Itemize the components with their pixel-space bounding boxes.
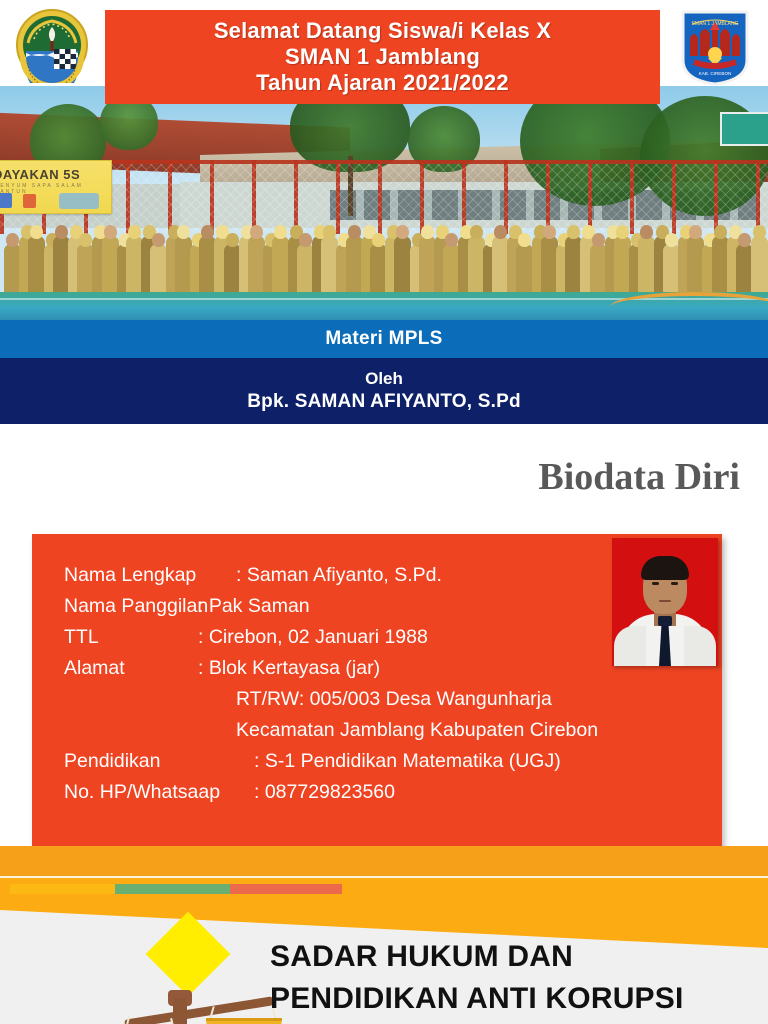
accent-bar-red	[230, 884, 342, 894]
biodata-value: : Cirebon, 02 Januari 1988	[198, 622, 428, 653]
person-head	[396, 225, 409, 239]
biodata-row: Pendidikan: S-1 Pendidikan Matematika (U…	[64, 746, 664, 777]
biodata-label: No. HP/Whatsaap	[64, 777, 254, 808]
school-group-photo: DAYAKAN 5S SENYUM SAPA SALAM SANTUN	[0, 86, 768, 320]
person-head	[128, 225, 141, 239]
person-head	[640, 225, 653, 239]
biodata-label: Nama Lengkap	[64, 560, 236, 591]
biodata-value: : Pak Saman	[198, 591, 310, 622]
biodata-row: Nama Panggilan: Pak Saman	[64, 591, 664, 622]
banner-graphic	[59, 193, 99, 209]
biodata-value: : S-1 Pendidikan Matematika (UGJ)	[254, 746, 561, 777]
person-head	[6, 233, 19, 247]
person-head	[30, 225, 43, 239]
teachers-group	[0, 214, 768, 296]
biodata-continuation-line: RT/RW: 005/003 Desa Wangunharja	[64, 684, 664, 715]
biodata-value: : Blok Kertayasa (jar)	[198, 653, 380, 684]
bottom-title-line-1: SADAR HUKUM DAN	[270, 936, 768, 978]
court-arc	[610, 292, 768, 320]
person-head	[55, 225, 68, 239]
person-head	[79, 233, 92, 247]
band-hairline	[0, 876, 768, 878]
presenter-name: Bpk. SAMAN AFIYANTO, S.Pd	[247, 390, 521, 414]
portrait-eye-left	[652, 582, 659, 585]
welcome-title-banner: Selamat Datang Siswa/i Kelas X SMAN 1 Ja…	[105, 10, 660, 104]
portrait-hair	[641, 556, 689, 580]
person-figure	[150, 244, 167, 296]
person-figure	[516, 244, 533, 296]
biodata-value: : 087729823560	[254, 777, 395, 808]
person-head	[152, 233, 165, 247]
school-logo-bottom-text: KAB. CIREBON	[699, 71, 732, 76]
yellow-diamond-shape	[146, 912, 231, 997]
biodata-value: : Saman Afiyanto, S.Pd.	[236, 560, 442, 591]
basketball-backboard-icon	[720, 112, 768, 146]
person-head	[518, 233, 531, 247]
person-head	[753, 225, 766, 239]
materi-bar: Materi MPLS	[0, 320, 768, 358]
orange-band-upper	[0, 846, 768, 876]
welcome-title-line-3: Tahun Ajaran 2021/2022	[256, 70, 509, 96]
person-figure	[638, 236, 655, 296]
person-head	[421, 225, 434, 239]
person-figure	[272, 236, 289, 296]
person-figure	[394, 236, 411, 296]
west-java-province-logo-icon	[14, 7, 90, 83]
person-head	[299, 233, 312, 247]
biodata-text-block: Nama Lengkap: Saman Afiyanto, S.Pd.Nama …	[64, 560, 664, 808]
presenter-bar: Oleh Bpk. SAMAN AFIYANTO, S.Pd	[0, 358, 768, 424]
person-head	[543, 225, 556, 239]
person-head	[274, 225, 287, 239]
person-head	[177, 225, 190, 239]
bottom-title-line-2: PENDIDIKAN ANTI KORUPSI	[270, 978, 768, 1020]
biodata-row: Alamat: Blok Kertayasa (jar)	[64, 653, 664, 684]
biodata-label: TTL	[64, 622, 198, 653]
person-head	[445, 233, 458, 247]
person-head	[592, 233, 605, 247]
scales-of-justice-icon	[110, 912, 280, 1024]
person-head	[372, 233, 385, 247]
portrait-eye-right	[671, 582, 678, 585]
biodata-row: No. HP/Whatsaap: 087729823560	[64, 777, 664, 808]
person-head	[689, 225, 702, 239]
welcome-title-line-2: SMAN 1 Jamblang	[285, 44, 480, 70]
person-head	[470, 225, 483, 239]
person-head	[104, 225, 117, 239]
portrait-tie-knot	[658, 616, 672, 626]
presentation-slide: DAYAKAN 5S SENYUM SAPA SALAM SANTUN	[0, 0, 768, 1024]
banner-text: DAYAKAN 5S	[0, 167, 80, 182]
portrait-shoulder-right	[684, 626, 716, 666]
person-head	[616, 225, 629, 239]
person-head	[226, 233, 239, 247]
person-head	[323, 225, 336, 239]
materi-label: Materi MPLS	[325, 328, 442, 350]
scales-post	[173, 998, 187, 1024]
portrait-mouth	[659, 600, 671, 602]
welcome-title-line-1: Selamat Datang Siswa/i Kelas X	[214, 18, 551, 44]
banner-logo-2	[23, 194, 36, 208]
accent-bar-green	[115, 884, 230, 894]
biodata-label: Nama Panggilan	[64, 591, 198, 622]
person-head	[348, 225, 361, 239]
person-head	[567, 225, 580, 239]
biodata-label: Alamat	[64, 653, 198, 684]
school-banner-5s: DAYAKAN 5S SENYUM SAPA SALAM SANTUN	[0, 160, 112, 214]
person-figure	[751, 236, 768, 296]
accent-bar-yellow	[10, 884, 120, 894]
biodata-card: Nama Lengkap: Saman Afiyanto, S.Pd.Nama …	[32, 534, 722, 860]
person-head	[714, 225, 727, 239]
oleh-label: Oleh	[365, 368, 403, 390]
biodata-continuation-line: Kecamatan Jamblang Kabupaten Cirebon	[64, 715, 664, 746]
banner-logo-1	[0, 193, 12, 208]
person-head	[250, 225, 263, 239]
biodata-row: TTL: Cirebon, 02 Januari 1988	[64, 622, 664, 653]
school-logo-icon: SMAN 1 JAMBLANG KAB. CIREBON	[678, 8, 752, 86]
bottom-topic-title: SADAR HUKUM DAN PENDIDIKAN ANTI KORUPSI	[270, 936, 768, 1020]
portrait-shoulder-left	[614, 626, 646, 666]
person-figure	[28, 236, 45, 296]
biodata-label: Pendidikan	[64, 746, 254, 777]
person-head	[665, 233, 678, 247]
biodata-row: Nama Lengkap: Saman Afiyanto, S.Pd.	[64, 560, 664, 591]
person-head	[201, 225, 214, 239]
biodata-heading: Biodata Diri	[420, 455, 740, 499]
person-head	[494, 225, 507, 239]
person-head	[738, 233, 751, 247]
presenter-portrait-photo	[612, 538, 718, 666]
